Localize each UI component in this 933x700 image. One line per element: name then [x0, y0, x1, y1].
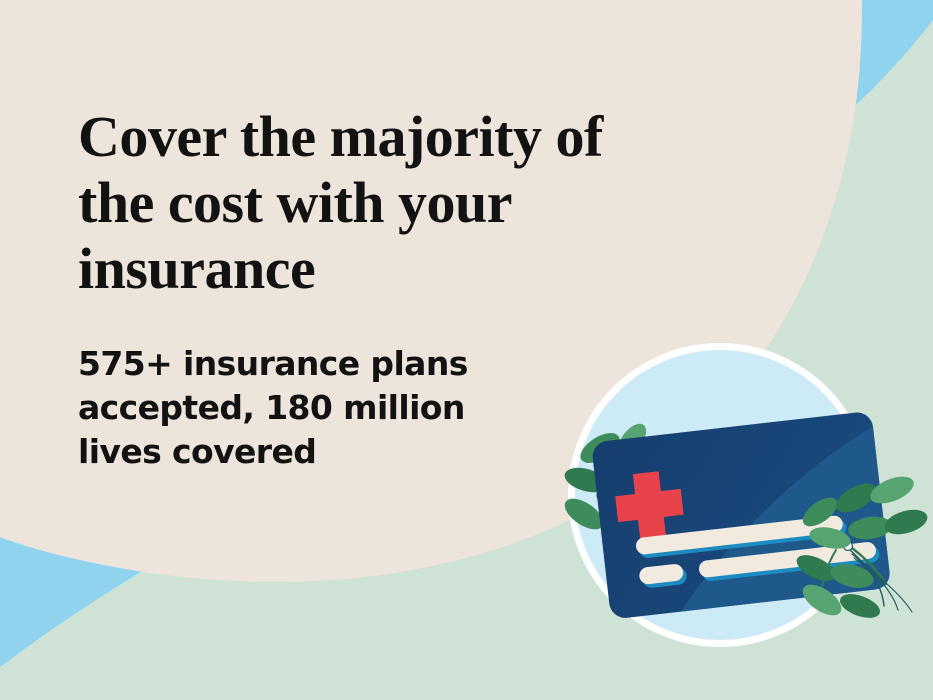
- headline-line-2: the cost with your: [78, 170, 708, 236]
- subheadline-line-2: accepted, 180 million: [78, 386, 518, 430]
- subheadline-line-3: lives covered: [78, 430, 518, 474]
- text-block: Cover the majority of the cost with your…: [78, 104, 718, 474]
- headline-line-1: Cover the majority of: [78, 104, 708, 170]
- page-title: Cover the majority of the cost with your…: [78, 104, 708, 302]
- subheadline-line-1: 575+ insurance plans: [78, 342, 518, 386]
- leaf: [837, 589, 883, 622]
- subheadline: 575+ insurance plans accepted, 180 milli…: [78, 302, 518, 474]
- headline-line-3: insurance: [78, 236, 708, 302]
- leaf: [882, 505, 930, 538]
- promo-banner: Cover the majority of the cost with your…: [0, 0, 933, 700]
